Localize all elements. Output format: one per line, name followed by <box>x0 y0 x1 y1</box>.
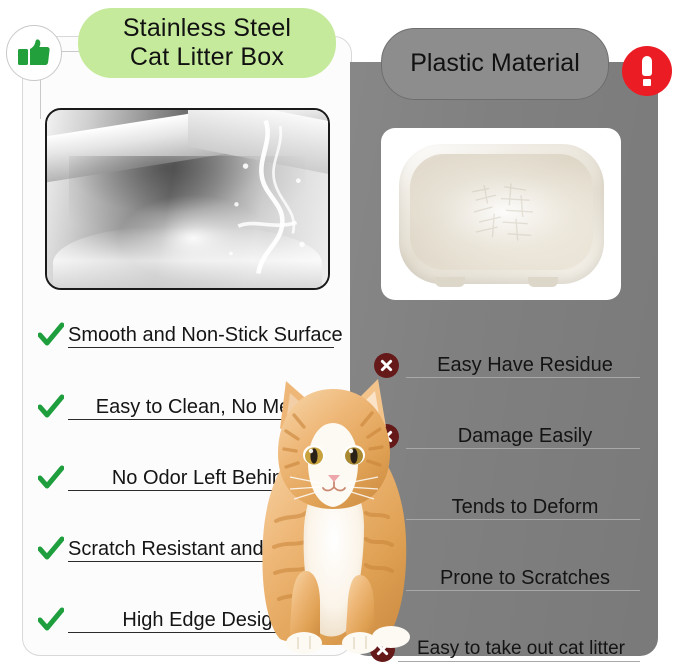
red-x-icon <box>368 424 404 449</box>
row-underline <box>68 347 334 348</box>
row-underline <box>406 519 640 520</box>
good-title-line-2: Cat Litter Box <box>130 43 284 71</box>
thumbs-up-icon <box>6 25 62 81</box>
good-feature-row-3: No Odor Left Behind <box>34 449 338 491</box>
green-check-icon <box>34 322 68 348</box>
green-check-icon <box>34 465 68 491</box>
bad-feature-row-2: Damage Easily <box>368 407 646 449</box>
feature-label: No Odor Left Behind <box>112 467 294 489</box>
good-feature-row-5: High Edge Design <box>34 591 338 633</box>
row-underline <box>68 561 334 562</box>
feature-label: Prone to Scratches <box>440 567 610 589</box>
feature-label: Easy to Clean, No Mess <box>96 396 311 418</box>
bad-feature-row-5: Easy to take out cat litter <box>368 620 646 662</box>
good-panel-title: Stainless Steel Cat Litter Box <box>78 8 336 78</box>
good-feature-row-1: Smooth and Non-Stick Surface <box>34 306 338 348</box>
plastic-litter-box-image <box>381 128 621 300</box>
row-underline <box>68 632 334 633</box>
feature-label: Easy to take out cat litter <box>417 639 625 660</box>
stainless-steel-sink-image <box>45 108 330 290</box>
bad-feature-row-4: Prone to Scratches <box>368 549 646 591</box>
feature-label: Damage Easily <box>458 425 593 447</box>
badge-connector-horizontal <box>59 51 79 52</box>
bad-panel-title: Plastic Material <box>381 28 609 100</box>
row-underline <box>406 377 640 378</box>
green-check-icon <box>34 607 68 633</box>
feature-label: Scratch Resistant and Durable <box>68 538 339 560</box>
row-underline <box>398 661 640 662</box>
feature-label: Easy Have Residue <box>437 354 613 376</box>
row-underline <box>406 448 640 449</box>
good-feature-row-4: Scratch Resistant and Durable <box>34 520 338 562</box>
red-x-icon <box>368 566 404 591</box>
good-feature-row-2: Easy to Clean, No Mess <box>34 378 338 420</box>
red-x-icon <box>368 353 404 378</box>
feature-label: Smooth and Non-Stick Surface <box>68 324 343 346</box>
red-x-icon <box>368 637 396 662</box>
badge-connector-vertical <box>40 79 41 119</box>
feature-label: Tends to Deform <box>452 496 599 518</box>
warning-exclamation-icon <box>622 46 672 96</box>
red-x-icon <box>368 495 404 520</box>
bad-feature-row-1: Easy Have Residue <box>368 336 646 378</box>
good-title-line-1: Stainless Steel <box>123 14 291 42</box>
green-check-icon <box>34 394 68 420</box>
row-underline <box>406 590 640 591</box>
row-underline <box>68 419 334 420</box>
row-underline <box>68 490 334 491</box>
comparison-infographic: Stainless Steel Cat Litter Box Plastic M… <box>0 0 679 671</box>
green-check-icon <box>34 536 68 562</box>
bad-feature-row-3: Tends to Deform <box>368 478 646 520</box>
feature-label: High Edge Design <box>122 609 283 631</box>
